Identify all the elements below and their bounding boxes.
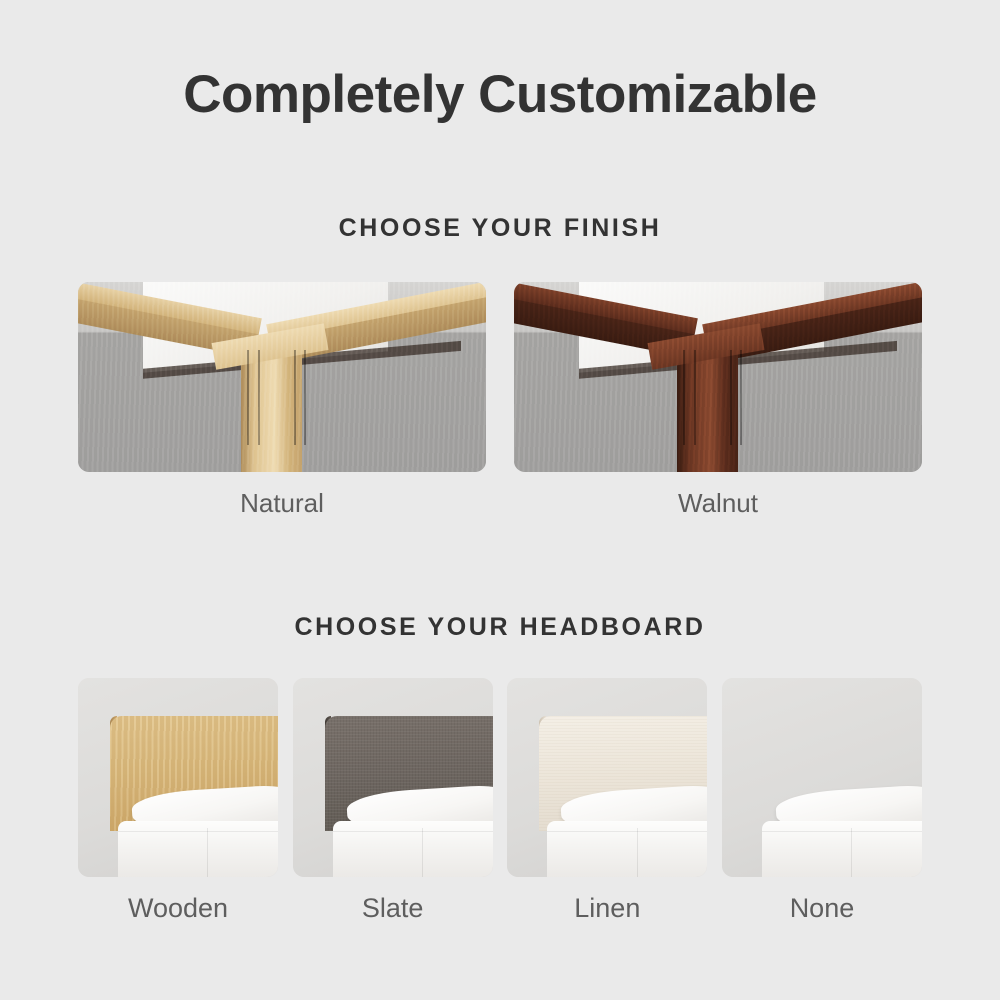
finish-option-natural[interactable] <box>78 282 486 472</box>
headboard-label-linen: Linen <box>507 893 707 924</box>
finish-options-row <box>78 282 922 472</box>
headboard-linen-image <box>507 678 707 877</box>
bed-leg <box>241 345 302 472</box>
joinery-groove <box>730 350 732 445</box>
product-customization-panel: Completely Customizable CHOOSE YOUR FINI… <box>0 0 1000 1000</box>
joinery-groove <box>294 350 296 445</box>
page-title: Completely Customizable <box>0 66 1000 124</box>
headboard-label-wooden: Wooden <box>78 893 278 924</box>
headboard-option-none[interactable] <box>722 678 922 877</box>
finish-option-walnut[interactable] <box>514 282 922 472</box>
mattress <box>118 821 278 877</box>
headboard-slate-image <box>293 678 493 877</box>
finish-labels-row: Natural Walnut <box>78 488 922 519</box>
headboard-labels-row: Wooden Slate Linen None <box>78 893 922 924</box>
joinery-groove <box>694 350 696 445</box>
headboard-wooden-image <box>78 678 278 877</box>
headboard-label-slate: Slate <box>293 893 493 924</box>
mattress <box>547 821 707 877</box>
headboard-none-image <box>722 678 922 877</box>
joinery-groove <box>247 350 249 445</box>
finish-section-heading: CHOOSE YOUR FINISH <box>0 214 1000 243</box>
headboard-option-wooden[interactable] <box>78 678 278 877</box>
joinery-groove <box>683 350 685 445</box>
finish-label-walnut: Walnut <box>514 488 922 519</box>
headboard-options-row <box>78 678 922 877</box>
joinery-groove <box>304 350 306 445</box>
mattress <box>333 821 493 877</box>
joinery-groove <box>258 350 260 445</box>
finish-label-natural: Natural <box>78 488 486 519</box>
headboard-label-none: None <box>722 893 922 924</box>
bed-leg <box>677 345 738 472</box>
headboard-section-heading: CHOOSE YOUR HEADBOARD <box>0 613 1000 642</box>
headboard-option-linen[interactable] <box>507 678 707 877</box>
mattress <box>762 821 922 877</box>
finish-walnut-image <box>514 282 922 472</box>
joinery-groove <box>740 350 742 445</box>
headboard-option-slate[interactable] <box>293 678 493 877</box>
finish-natural-image <box>78 282 486 472</box>
